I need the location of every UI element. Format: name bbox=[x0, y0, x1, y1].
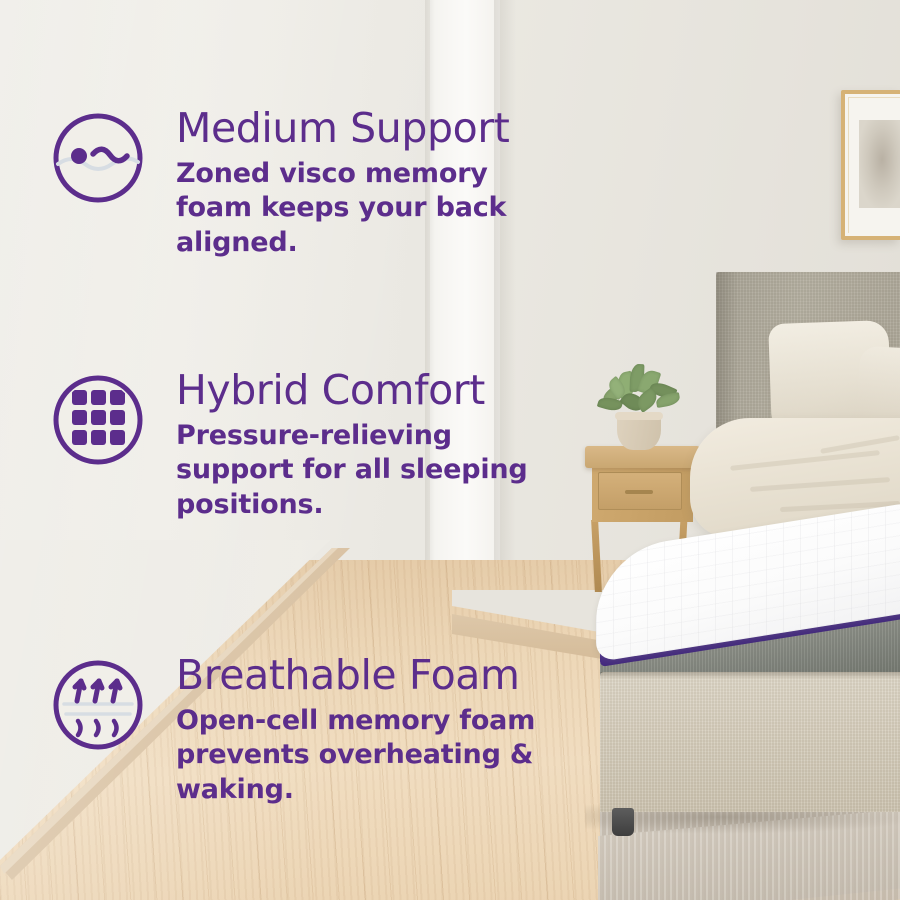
body-line: Open-cell memory foam bbox=[176, 704, 535, 739]
feature-body: Pressure-relieving support for all sleep… bbox=[176, 419, 528, 523]
pocket-spring-grid-icon bbox=[48, 370, 148, 470]
feature-list: Medium Support Zoned visco memory foam k… bbox=[0, 0, 900, 900]
feature-medium-support: Medium Support Zoned visco memory foam k… bbox=[48, 108, 509, 260]
feature-text: Medium Support Zoned visco memory foam k… bbox=[176, 108, 509, 260]
feature-heading: Hybrid Comfort bbox=[176, 370, 528, 412]
body-line: Pressure-relieving bbox=[176, 419, 528, 454]
feature-heading: Medium Support bbox=[176, 108, 509, 150]
feature-heading: Breathable Foam bbox=[176, 655, 535, 697]
feature-text: Hybrid Comfort Pressure-relieving suppor… bbox=[176, 370, 528, 522]
body-line: Zoned visco memory bbox=[176, 157, 509, 192]
body-line: prevents overheating & bbox=[176, 738, 535, 773]
body-line: positions. bbox=[176, 488, 528, 523]
feature-body: Open-cell memory foam prevents overheati… bbox=[176, 704, 535, 808]
feature-body: Zoned visco memory foam keeps your back … bbox=[176, 157, 509, 261]
product-feature-graphic: Medium Support Zoned visco memory foam k… bbox=[0, 0, 900, 900]
body-line: foam keeps your back bbox=[176, 191, 509, 226]
body-line: support for all sleeping bbox=[176, 453, 528, 488]
airflow-arrows-icon bbox=[48, 655, 148, 755]
feature-breathable-foam: Breathable Foam Open-cell memory foam pr… bbox=[48, 655, 535, 807]
feature-text: Breathable Foam Open-cell memory foam pr… bbox=[176, 655, 535, 807]
body-line: aligned. bbox=[176, 226, 509, 261]
zoned-support-icon bbox=[48, 108, 148, 208]
body-line: waking. bbox=[176, 773, 535, 808]
feature-hybrid-comfort: Hybrid Comfort Pressure-relieving suppor… bbox=[48, 370, 528, 522]
